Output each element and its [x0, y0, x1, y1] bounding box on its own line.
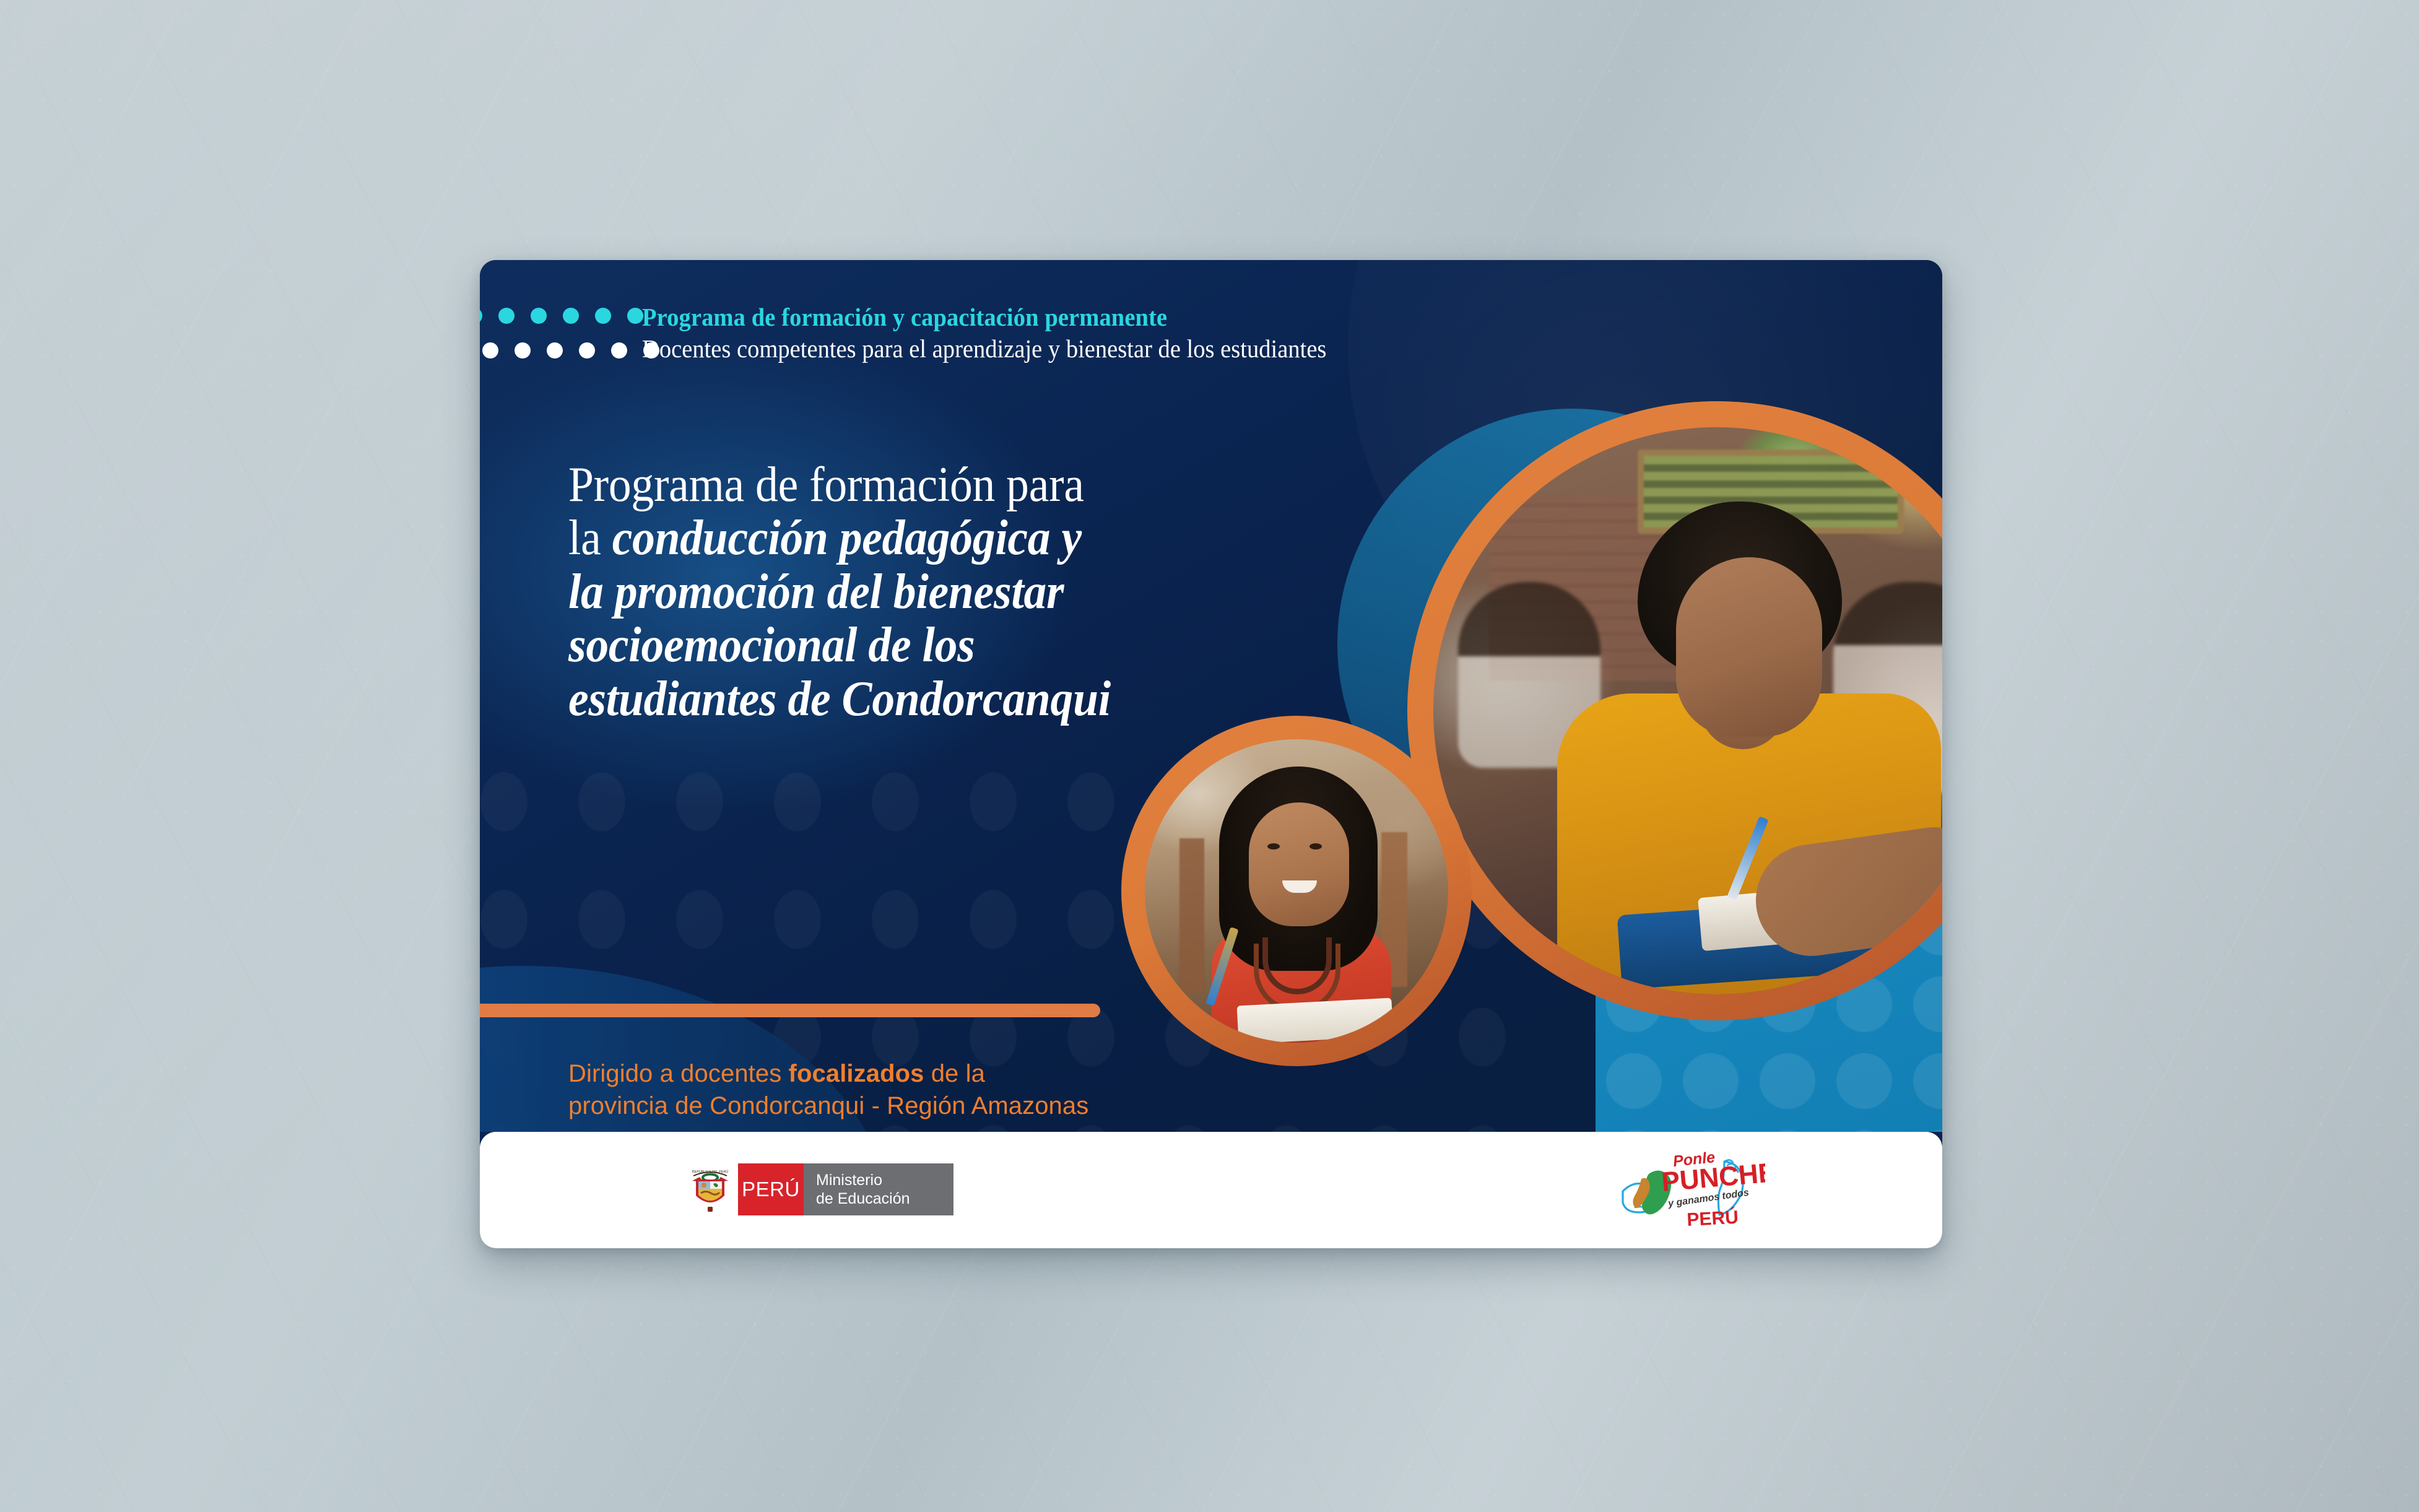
audience-middle: de la — [924, 1060, 984, 1087]
title-line-1: Programa de formación para — [568, 458, 1084, 512]
photo-girl-face — [1249, 802, 1349, 926]
audience-prefix: Dirigido a docentes — [568, 1060, 789, 1087]
banner-header: Programa de formación y capacitación per… — [480, 303, 1942, 363]
title-line-2-emphasis: conducción pedagógica y — [612, 511, 1082, 565]
photo-girl-eye-right — [1309, 843, 1322, 849]
cyan-dot — [563, 308, 579, 324]
ponle-punche-logo: Ponle PUNCHE y ganamos todos PERÚ — [1614, 1149, 1765, 1231]
ministry-line-1: Ministerio — [816, 1171, 940, 1190]
audience-location: provincia de Condorcanqui - Región Amazo… — [568, 1092, 1088, 1119]
cyan-dot — [498, 308, 515, 324]
cyan-dot-row — [480, 308, 643, 324]
title-line-5: estudiantes de Condorcanqui — [568, 672, 1111, 726]
ministry-label: Ministerio de Educación — [804, 1163, 953, 1215]
white-dot — [547, 342, 563, 358]
title-line-3: la promoción del bienestar — [568, 565, 1064, 619]
photo-boy-face — [1676, 557, 1822, 737]
page-title: Programa de formación para la conducción… — [568, 458, 1269, 726]
cyan-dot — [627, 308, 643, 324]
title-line-4: socioemocional de los — [568, 618, 975, 672]
orange-divider-bar — [480, 1004, 1100, 1017]
banner-stage: Programa de formación y capacitación per… — [480, 260, 1942, 1132]
white-dot — [579, 342, 595, 358]
cyan-dot — [480, 308, 482, 324]
audience-highlight: focalizados — [789, 1060, 924, 1087]
program-name: Programa de formación y capacitación per… — [642, 303, 1326, 332]
photo-girl-eye-left — [1267, 843, 1280, 849]
audience-subtitle: Dirigido a docentes focalizados de la pr… — [568, 1058, 1299, 1122]
banner-footer: REPÚBLICA DEL PERÚ PERÚ Ministe — [480, 1132, 1942, 1248]
svg-text:PERÚ: PERÚ — [1687, 1207, 1739, 1230]
peru-label: PERÚ — [738, 1163, 804, 1215]
minedu-logo: REPÚBLICA DEL PERÚ PERÚ Ministe — [687, 1163, 953, 1216]
title-block: Programa de formación para la conducción… — [568, 458, 1330, 726]
header-dot-decoration — [480, 304, 640, 363]
white-dot — [611, 342, 627, 358]
title-line-2-prefix: la — [568, 511, 612, 565]
student-girl-smiling-photo — [1145, 739, 1448, 1043]
white-dot — [515, 342, 531, 358]
header-text-group: Programa de formación y capacitación per… — [642, 303, 1370, 363]
promotional-banner-card: Programa de formación y capacitación per… — [480, 260, 1942, 1248]
peru-coat-of-arms-icon: REPÚBLICA DEL PERÚ — [687, 1163, 733, 1215]
white-dot-row — [482, 342, 659, 358]
photo-chair-left — [1179, 838, 1204, 993]
cyan-dot — [595, 308, 611, 324]
white-dot — [482, 342, 498, 358]
photo-girl-paper — [1237, 998, 1394, 1043]
cyan-dot — [531, 308, 547, 324]
program-tagline: Docentes competentes para el aprendizaje… — [642, 334, 1326, 363]
ministry-line-2: de Educación — [816, 1189, 940, 1209]
